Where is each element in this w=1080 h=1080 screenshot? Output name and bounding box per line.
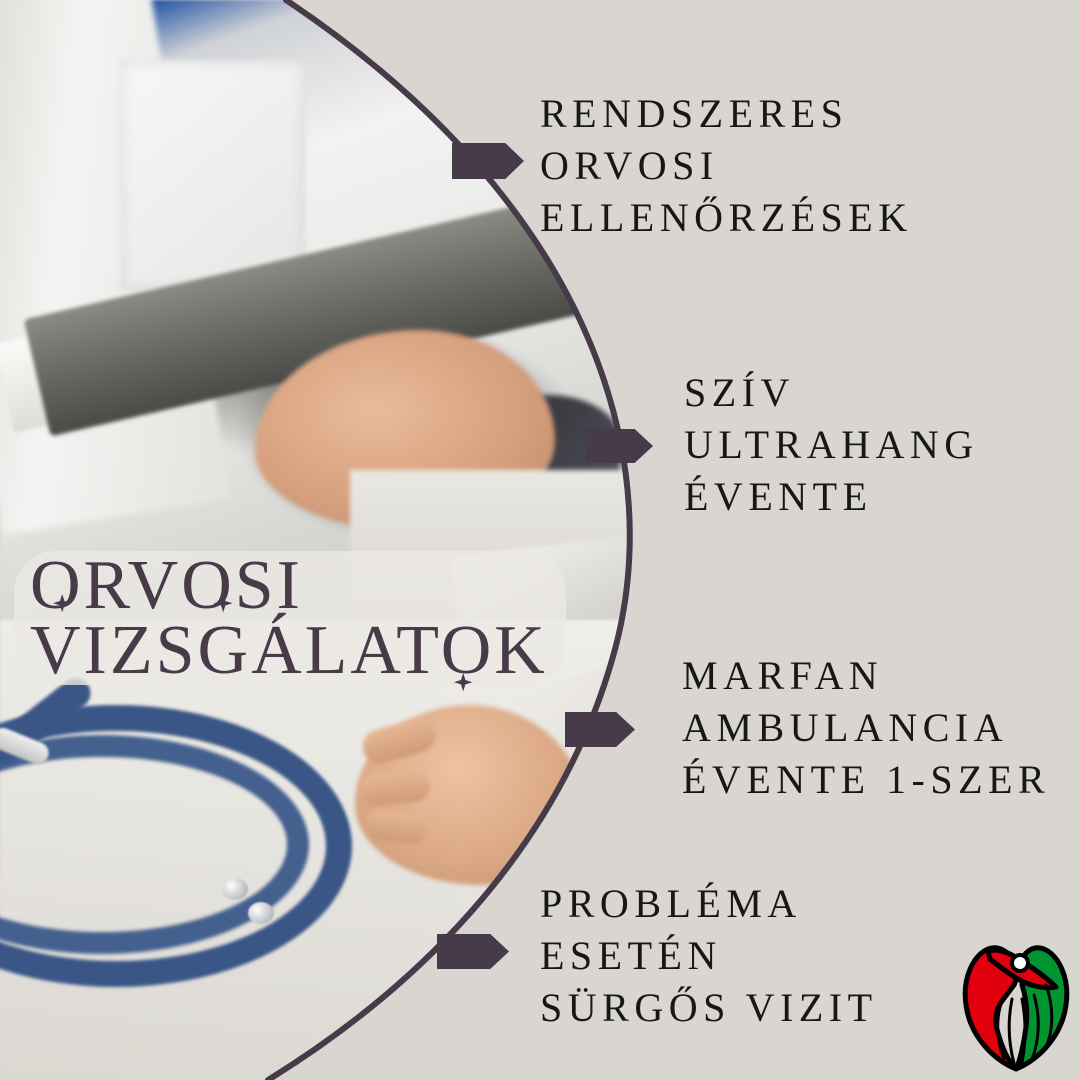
arrow-marker-icon-3 — [565, 712, 635, 747]
organization-logo — [952, 935, 1080, 1075]
bird-shield-icon — [965, 948, 1067, 1069]
bullet-1-line-2: ORVOSI — [540, 140, 913, 192]
title-line-1: ORVOSI — [30, 552, 670, 619]
bullet-3-line-1: MARFAN — [682, 650, 1050, 702]
stethoscope-metal-b — [248, 902, 274, 924]
infographic-poster: RENDSZERES ORVOSI ELLENŐRZÉSEK SZÍV ULTR… — [0, 0, 1080, 1080]
stethoscope-metal-a — [222, 878, 248, 900]
arrow-marker-icon-4 — [437, 934, 509, 969]
bullet-3-line-3: ÉVENTE 1-SZER — [682, 754, 1050, 806]
bullet-text-2: SZÍV ULTRAHANG ÉVENTE — [684, 367, 979, 523]
bullet-text-3: MARFAN AMBULANCIA ÉVENTE 1-SZER — [682, 650, 1050, 806]
arrow-marker-icon-2 — [585, 429, 653, 463]
bullet-3-line-2: AMBULANCIA — [682, 702, 1050, 754]
lab-coat-pocket — [120, 60, 305, 290]
bullet-1-line-3: ELLENŐRZÉSEK — [540, 192, 913, 244]
bullet-2-line-1: SZÍV — [684, 367, 979, 419]
title-line-2: VIZSGÁLATOK — [30, 617, 670, 684]
bullet-4-line-3: SÜRGŐS VIZIT — [540, 982, 878, 1034]
bullet-4-line-2: ESETÉN — [540, 930, 878, 982]
bullet-text-4: PROBLÉMA ESETÉN SÜRGŐS VIZIT — [540, 878, 878, 1034]
page-title: ORVOSI VIZSGÁLATOK — [30, 552, 670, 684]
bullet-4-line-1: PROBLÉMA — [540, 878, 878, 930]
arrow-marker-icon-1 — [452, 143, 524, 179]
bullet-text-1: RENDSZERES ORVOSI ELLENŐRZÉSEK — [540, 88, 913, 244]
bullet-2-line-2: ULTRAHANG — [684, 419, 979, 471]
bullet-1-line-1: RENDSZERES — [540, 88, 913, 140]
logo-eye — [1012, 955, 1028, 971]
bullet-2-line-3: ÉVENTE — [684, 471, 979, 523]
